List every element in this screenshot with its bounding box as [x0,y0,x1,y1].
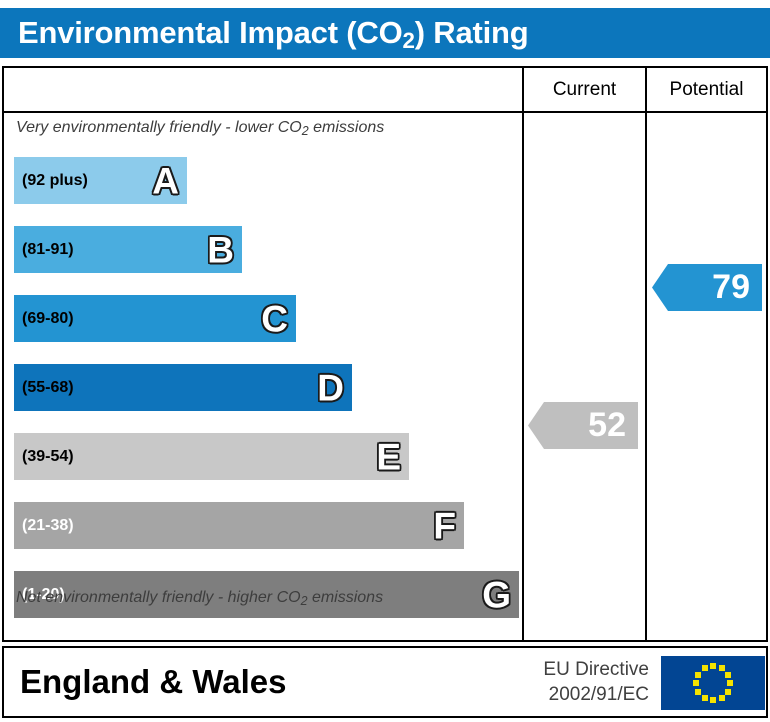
eu-flag-star [725,689,731,695]
footer-region-label: England & Wales [20,663,286,701]
eu-flag-star [710,663,716,669]
page-title-suffix: ) Rating [415,15,529,50]
page-title-prefix: Environmental Impact (CO [18,15,403,50]
band-range-label: (21-38) [22,517,74,535]
caption-bottom: Not environmentally friendly - higher CO… [16,589,383,607]
band-range-label: (69-80) [22,310,74,328]
band-letter-a: A [152,162,179,199]
eu-flag-star [719,665,725,671]
eu-flag-star [695,689,701,695]
band-range-label: (55-68) [22,379,74,397]
eu-flag-star [727,680,733,686]
column-divider-potential [645,113,647,640]
eu-flag-star [710,697,716,703]
column-header-potential: Potential [645,68,766,111]
caption-top-suffix: emissions [309,119,385,136]
chart-footer: England & Wales EU Directive 2002/91/EC [2,646,768,718]
eu-flag-star [719,695,725,701]
caption-bottom-suffix: emissions [308,589,384,606]
eu-flag-star [695,672,701,678]
column-divider-current [522,113,524,640]
ratings-table: Current Potential Very environmentally f… [2,66,768,642]
caption-bottom-subscript: 2 [301,594,308,608]
band-row-d: (55-68)D [14,364,352,411]
caption-top-subscript: 2 [302,124,309,138]
footer-directive-line2: 2002/91/EC [494,682,649,707]
page-title-subscript: 2 [403,28,415,53]
eu-flag-star [702,665,708,671]
band-letter-f: F [433,507,456,544]
band-range-label: (39-54) [22,448,74,466]
page-title: Environmental Impact (CO2) Rating [18,15,529,51]
band-row-a: (92 plus)A [14,157,187,204]
footer-directive: EU Directive 2002/91/EC [494,657,649,707]
caption-top-prefix: Very environmentally friendly - lower CO [16,119,302,136]
eu-flag-star [725,672,731,678]
band-letter-b: B [207,231,234,268]
caption-bottom-prefix: Not environmentally friendly - higher CO [16,589,301,606]
band-letter-d: D [317,369,344,406]
caption-top: Very environmentally friendly - lower CO… [16,119,384,137]
column-header-current: Current [522,68,645,111]
band-range-label: (81-91) [22,241,74,259]
band-range-label: (92 plus) [22,172,88,190]
table-header-row: Current Potential [4,68,766,113]
eu-flag-star [693,680,699,686]
eu-flag-star [702,695,708,701]
chart-title-bar: Environmental Impact (CO2) Rating [0,8,770,58]
potential-rating-arrow: 79 [652,264,762,311]
current-rating-arrow: 52 [528,402,638,449]
band-row-f: (21-38)F [14,502,464,549]
band-letter-g: G [482,576,511,613]
eu-flag-icon [661,656,765,710]
band-row-b: (81-91)B [14,226,242,273]
footer-directive-line1: EU Directive [494,657,649,682]
band-row-e: (39-54)E [14,433,409,480]
band-letter-c: C [261,300,288,337]
band-row-c: (69-80)C [14,295,296,342]
epc-environmental-impact-chart: Environmental Impact (CO2) Rating Curren… [0,0,770,722]
bands-column: Very environmentally friendly - lower CO… [4,113,522,640]
band-letter-e: E [376,438,401,475]
